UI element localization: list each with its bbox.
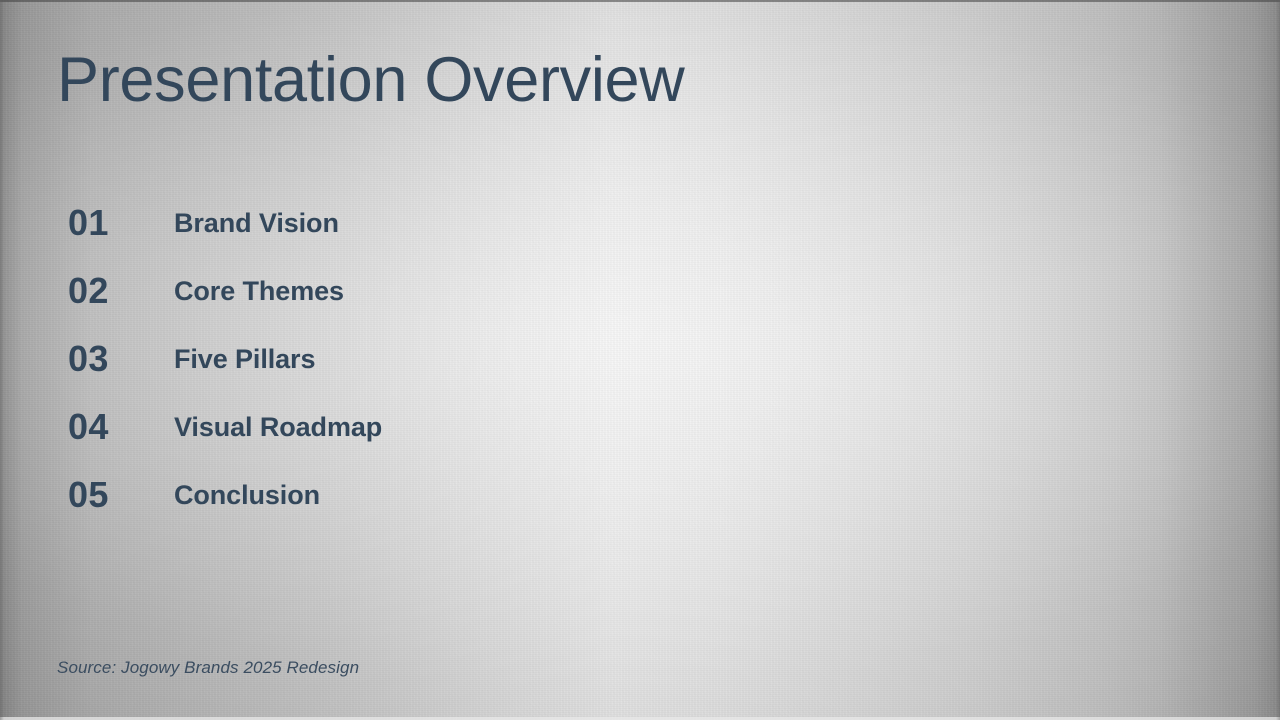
agenda-item-label: Visual Roadmap (174, 409, 382, 445)
source-footnote: Source: Jogowy Brands 2025 Redesign (57, 658, 359, 678)
agenda-item-04[interactable]: 04 Visual Roadmap (0, 400, 700, 468)
agenda-item-number: 01 (68, 202, 154, 244)
slide-content: Presentation Overview 01 Brand Vision 02… (0, 0, 1280, 720)
agenda-item-number: 02 (68, 270, 154, 312)
agenda-item-02[interactable]: 02 Core Themes (0, 264, 700, 332)
agenda-item-number: 04 (68, 406, 154, 448)
agenda-item-label: Five Pillars (174, 341, 315, 377)
presentation-slide: Presentation Overview 01 Brand Vision 02… (0, 0, 1280, 720)
agenda-item-number: 05 (68, 474, 154, 516)
agenda-item-03[interactable]: 03 Five Pillars (0, 332, 700, 400)
page-title: Presentation Overview (57, 49, 684, 112)
agenda-item-label: Brand Vision (174, 205, 339, 241)
agenda-list: 01 Brand Vision 02 Core Themes 03 Five P… (0, 196, 700, 536)
agenda-item-01[interactable]: 01 Brand Vision (0, 196, 700, 264)
agenda-item-label: Conclusion (174, 477, 320, 513)
agenda-item-05[interactable]: 05 Conclusion (0, 468, 700, 536)
agenda-item-label: Core Themes (174, 273, 344, 309)
agenda-item-number: 03 (68, 338, 154, 380)
